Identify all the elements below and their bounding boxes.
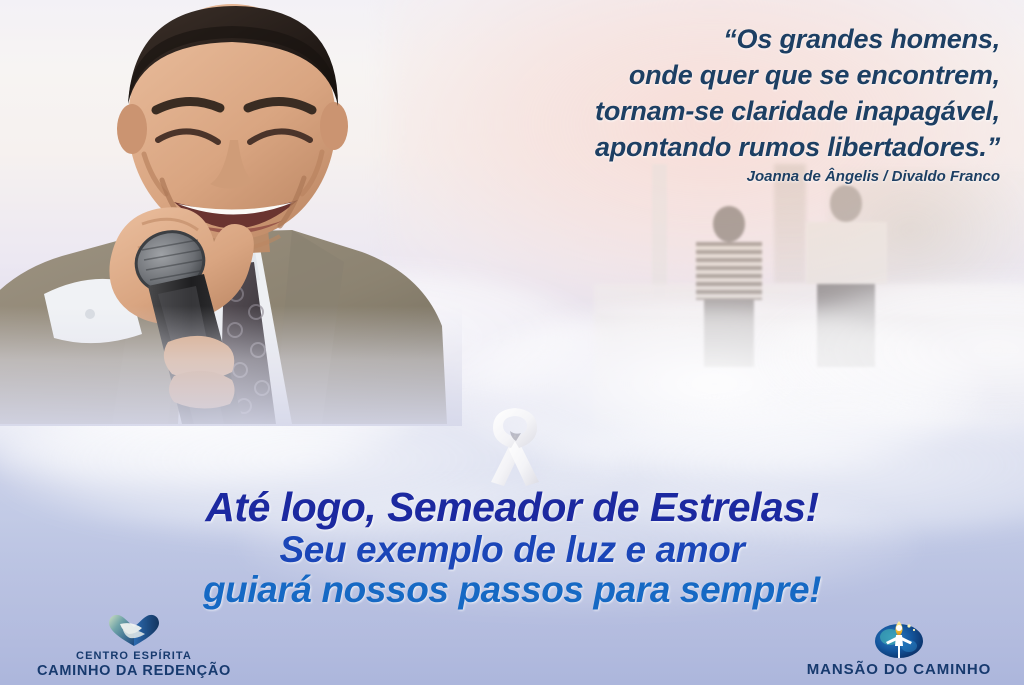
quote-line-1: “Os grandes homens,	[400, 22, 1000, 58]
hands-heart-icon	[107, 612, 161, 648]
portrait-photo	[0, 0, 462, 424]
quote-attribution: Joanna de Ângelis / Divaldo Franco	[400, 168, 1000, 185]
headline-line-3: guiará nossos passos para sempre!	[0, 571, 1024, 609]
logo-right-text: MANSÃO DO CAMINHO	[807, 662, 991, 679]
logo-left-text: CENTRO ESPÍRITA CAMINHO DA REDENÇÃO	[37, 650, 231, 679]
logo-left-line-1: CENTRO ESPÍRITA	[37, 650, 231, 662]
headline-line-1: Até logo, Semeador de Estrelas!	[0, 486, 1024, 529]
figure-torso	[806, 222, 887, 284]
figure-head	[830, 185, 862, 221]
quote-line-4: apontando rumos libertadores.”	[400, 130, 1000, 166]
white-ribbon-icon	[481, 404, 549, 488]
memorial-poster: “Os grandes homens, onde quer que se enc…	[0, 0, 1024, 685]
globe-figure-flame-icon	[873, 618, 925, 660]
logo-right-line-2: MANSÃO DO CAMINHO	[807, 662, 991, 679]
logo-mansao-do-caminho: MANSÃO DO CAMINHO	[784, 618, 1014, 679]
quote-line-2: onde quer que se encontrem,	[400, 58, 1000, 94]
figure-head	[713, 206, 745, 242]
headline-line-2: Seu exemplo de luz e amor	[0, 531, 1024, 569]
logo-centro-espirita: CENTRO ESPÍRITA CAMINHO DA REDENÇÃO	[14, 612, 254, 679]
logo-left-line-2: CAMINHO DA REDENÇÃO	[37, 663, 231, 679]
quote-line-3: tornam-se claridade inapagável,	[400, 94, 1000, 130]
headline-block: Até logo, Semeador de Estrelas! Seu exem…	[0, 486, 1024, 610]
quote-text: “Os grandes homens, onde quer que se enc…	[400, 22, 1000, 166]
